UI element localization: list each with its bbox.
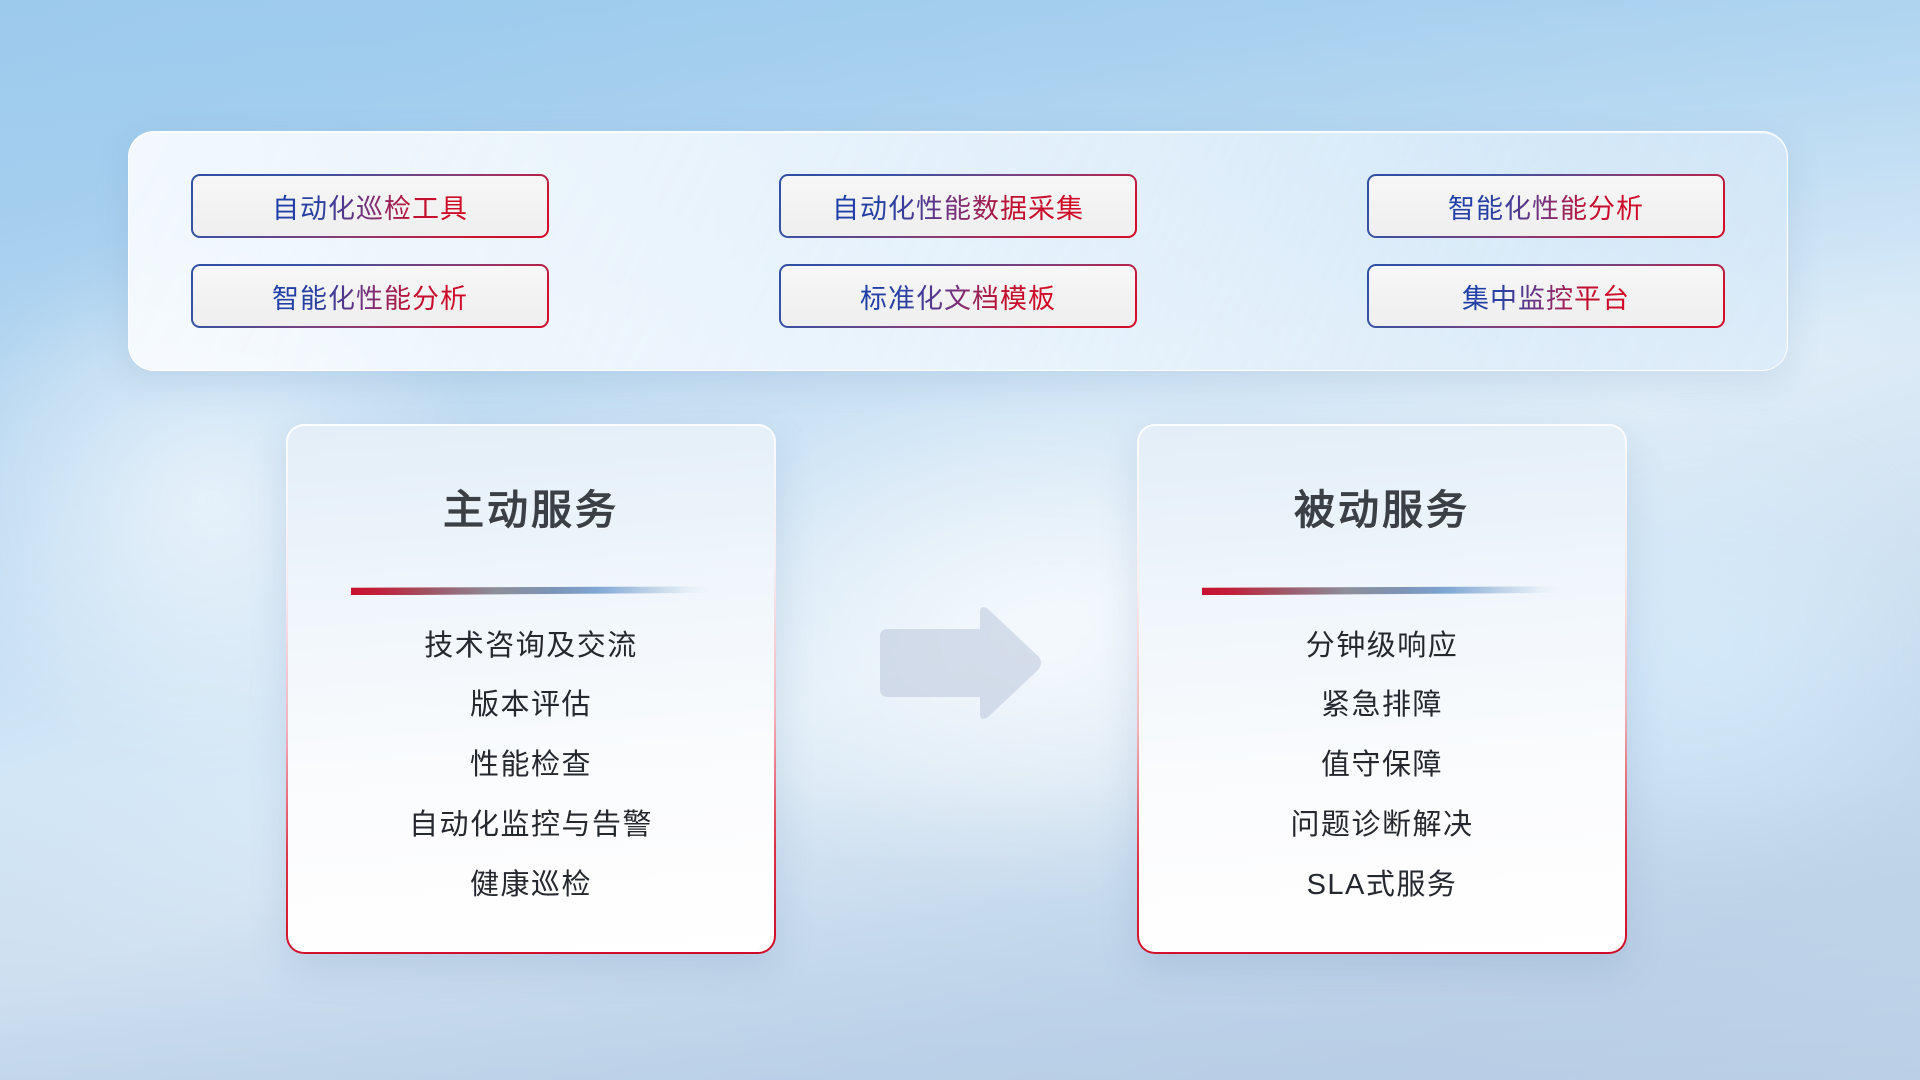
list-item: 紧急排障 xyxy=(1321,688,1443,723)
capability-tag-label: 智能化性能分析 xyxy=(1448,187,1644,226)
list-item: 技术咨询及交流 xyxy=(424,629,638,664)
capability-tag-row-2: 智能化性能分析 标准化文档模板 集中监控平台 xyxy=(191,264,1725,328)
list-item: 性能检查 xyxy=(470,748,592,783)
capability-tags-panel: 自动化巡检工具 自动化性能数据采集 智能化性能分析 智能化性能分析 标准化文档模… xyxy=(128,131,1788,371)
capability-tag[interactable]: 自动化巡检工具 xyxy=(191,174,549,238)
list-item: 值守保障 xyxy=(1321,748,1443,783)
list-item: SLA式服务 xyxy=(1307,868,1458,903)
capability-tag[interactable]: 集中监控平台 xyxy=(1367,264,1725,328)
capability-tag[interactable]: 智能化性能分析 xyxy=(1367,174,1725,238)
list-item: 分钟级响应 xyxy=(1306,629,1459,664)
capability-tag-row-1: 自动化巡检工具 自动化性能数据采集 智能化性能分析 xyxy=(191,174,1725,238)
service-card-active: 主动服务 技术咨询及交流 版本评估 性能检查 自动化监控与告警 健康巡检 xyxy=(286,424,776,954)
capability-tag-surface: 自动化巡检工具 xyxy=(193,176,547,236)
list-item: 问题诊断解决 xyxy=(1290,808,1473,843)
capability-tag-surface: 集中监控平台 xyxy=(1369,266,1723,326)
capability-tag[interactable]: 标准化文档模板 xyxy=(779,264,1137,328)
card-title-divider xyxy=(1202,586,1562,595)
capability-tag-surface: 智能化性能分析 xyxy=(1369,176,1723,236)
capability-tag-label: 自动化巡检工具 xyxy=(272,187,468,226)
card-title: 被动服务 xyxy=(1294,486,1470,534)
list-item: 健康巡检 xyxy=(470,868,592,903)
capability-tag-label: 智能化性能分析 xyxy=(272,277,468,316)
capability-tag-label: 自动化性能数据采集 xyxy=(832,187,1084,226)
service-item-list: 分钟级响应 紧急排障 值守保障 问题诊断解决 SLA式服务 xyxy=(1139,603,1625,928)
capability-tag-surface: 自动化性能数据采集 xyxy=(781,176,1135,236)
card-title: 主动服务 xyxy=(443,486,619,534)
list-item: 版本评估 xyxy=(470,688,592,723)
list-item: 自动化监控与告警 xyxy=(409,808,653,843)
flow-arrow-right-icon xyxy=(872,604,1044,722)
service-card-surface: 被动服务 分钟级响应 紧急排障 值守保障 问题诊断解决 SLA式服务 xyxy=(1139,426,1625,952)
card-title-divider xyxy=(351,586,711,595)
service-card-passive: 被动服务 分钟级响应 紧急排障 值守保障 问题诊断解决 SLA式服务 xyxy=(1137,424,1627,954)
service-card-surface: 主动服务 技术咨询及交流 版本评估 性能检查 自动化监控与告警 健康巡检 xyxy=(288,426,774,952)
capability-tag-surface: 智能化性能分析 xyxy=(193,266,547,326)
capability-tag[interactable]: 自动化性能数据采集 xyxy=(779,174,1137,238)
capability-tag-label: 标准化文档模板 xyxy=(860,277,1056,316)
capability-tag-label: 集中监控平台 xyxy=(1462,277,1630,316)
capability-tag-surface: 标准化文档模板 xyxy=(781,266,1135,326)
capability-tag[interactable]: 智能化性能分析 xyxy=(191,264,549,328)
service-item-list: 技术咨询及交流 版本评估 性能检查 自动化监控与告警 健康巡检 xyxy=(288,603,774,928)
